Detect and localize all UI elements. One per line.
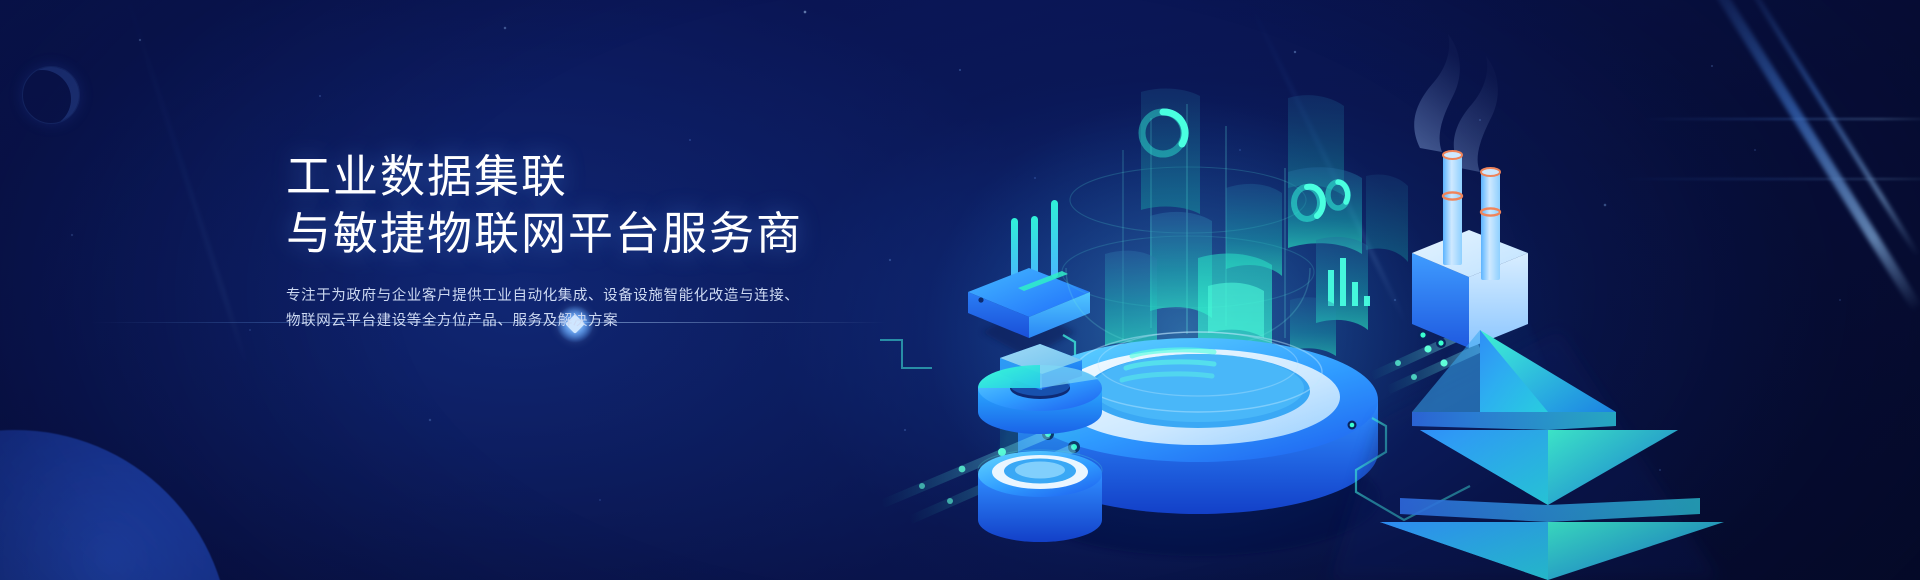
hero-text-block: 工业数据集联 与敏捷物联网平台服务商 专注于为政府与企业客户提供工业自动化集成、… bbox=[286, 148, 906, 334]
hero-subtitle-line2: 物联网云平台建设等全方位产品、服务及解决方案 bbox=[286, 313, 618, 329]
hero-subtitle-line1: 专注于为政府与企业客户提供工业自动化集成、设备设施智能化改造与连接、 bbox=[286, 288, 799, 304]
page-title-line1: 工业数据集联 bbox=[286, 148, 906, 205]
connection-wire bbox=[880, 340, 932, 368]
factory-smokestacks-icon bbox=[1412, 34, 1528, 348]
page-title-line2: 与敏捷物联网平台服务商 bbox=[286, 205, 906, 262]
hero-banner: 工业数据集联 与敏捷物联网平台服务商 专注于为政府与企业客户提供工业自动化集成、… bbox=[0, 0, 1920, 580]
hero-subtitle: 专注于为政府与企业客户提供工业自动化集成、设备设施智能化改造与连接、 物联网云平… bbox=[286, 284, 816, 334]
small-disc bbox=[978, 451, 1102, 542]
